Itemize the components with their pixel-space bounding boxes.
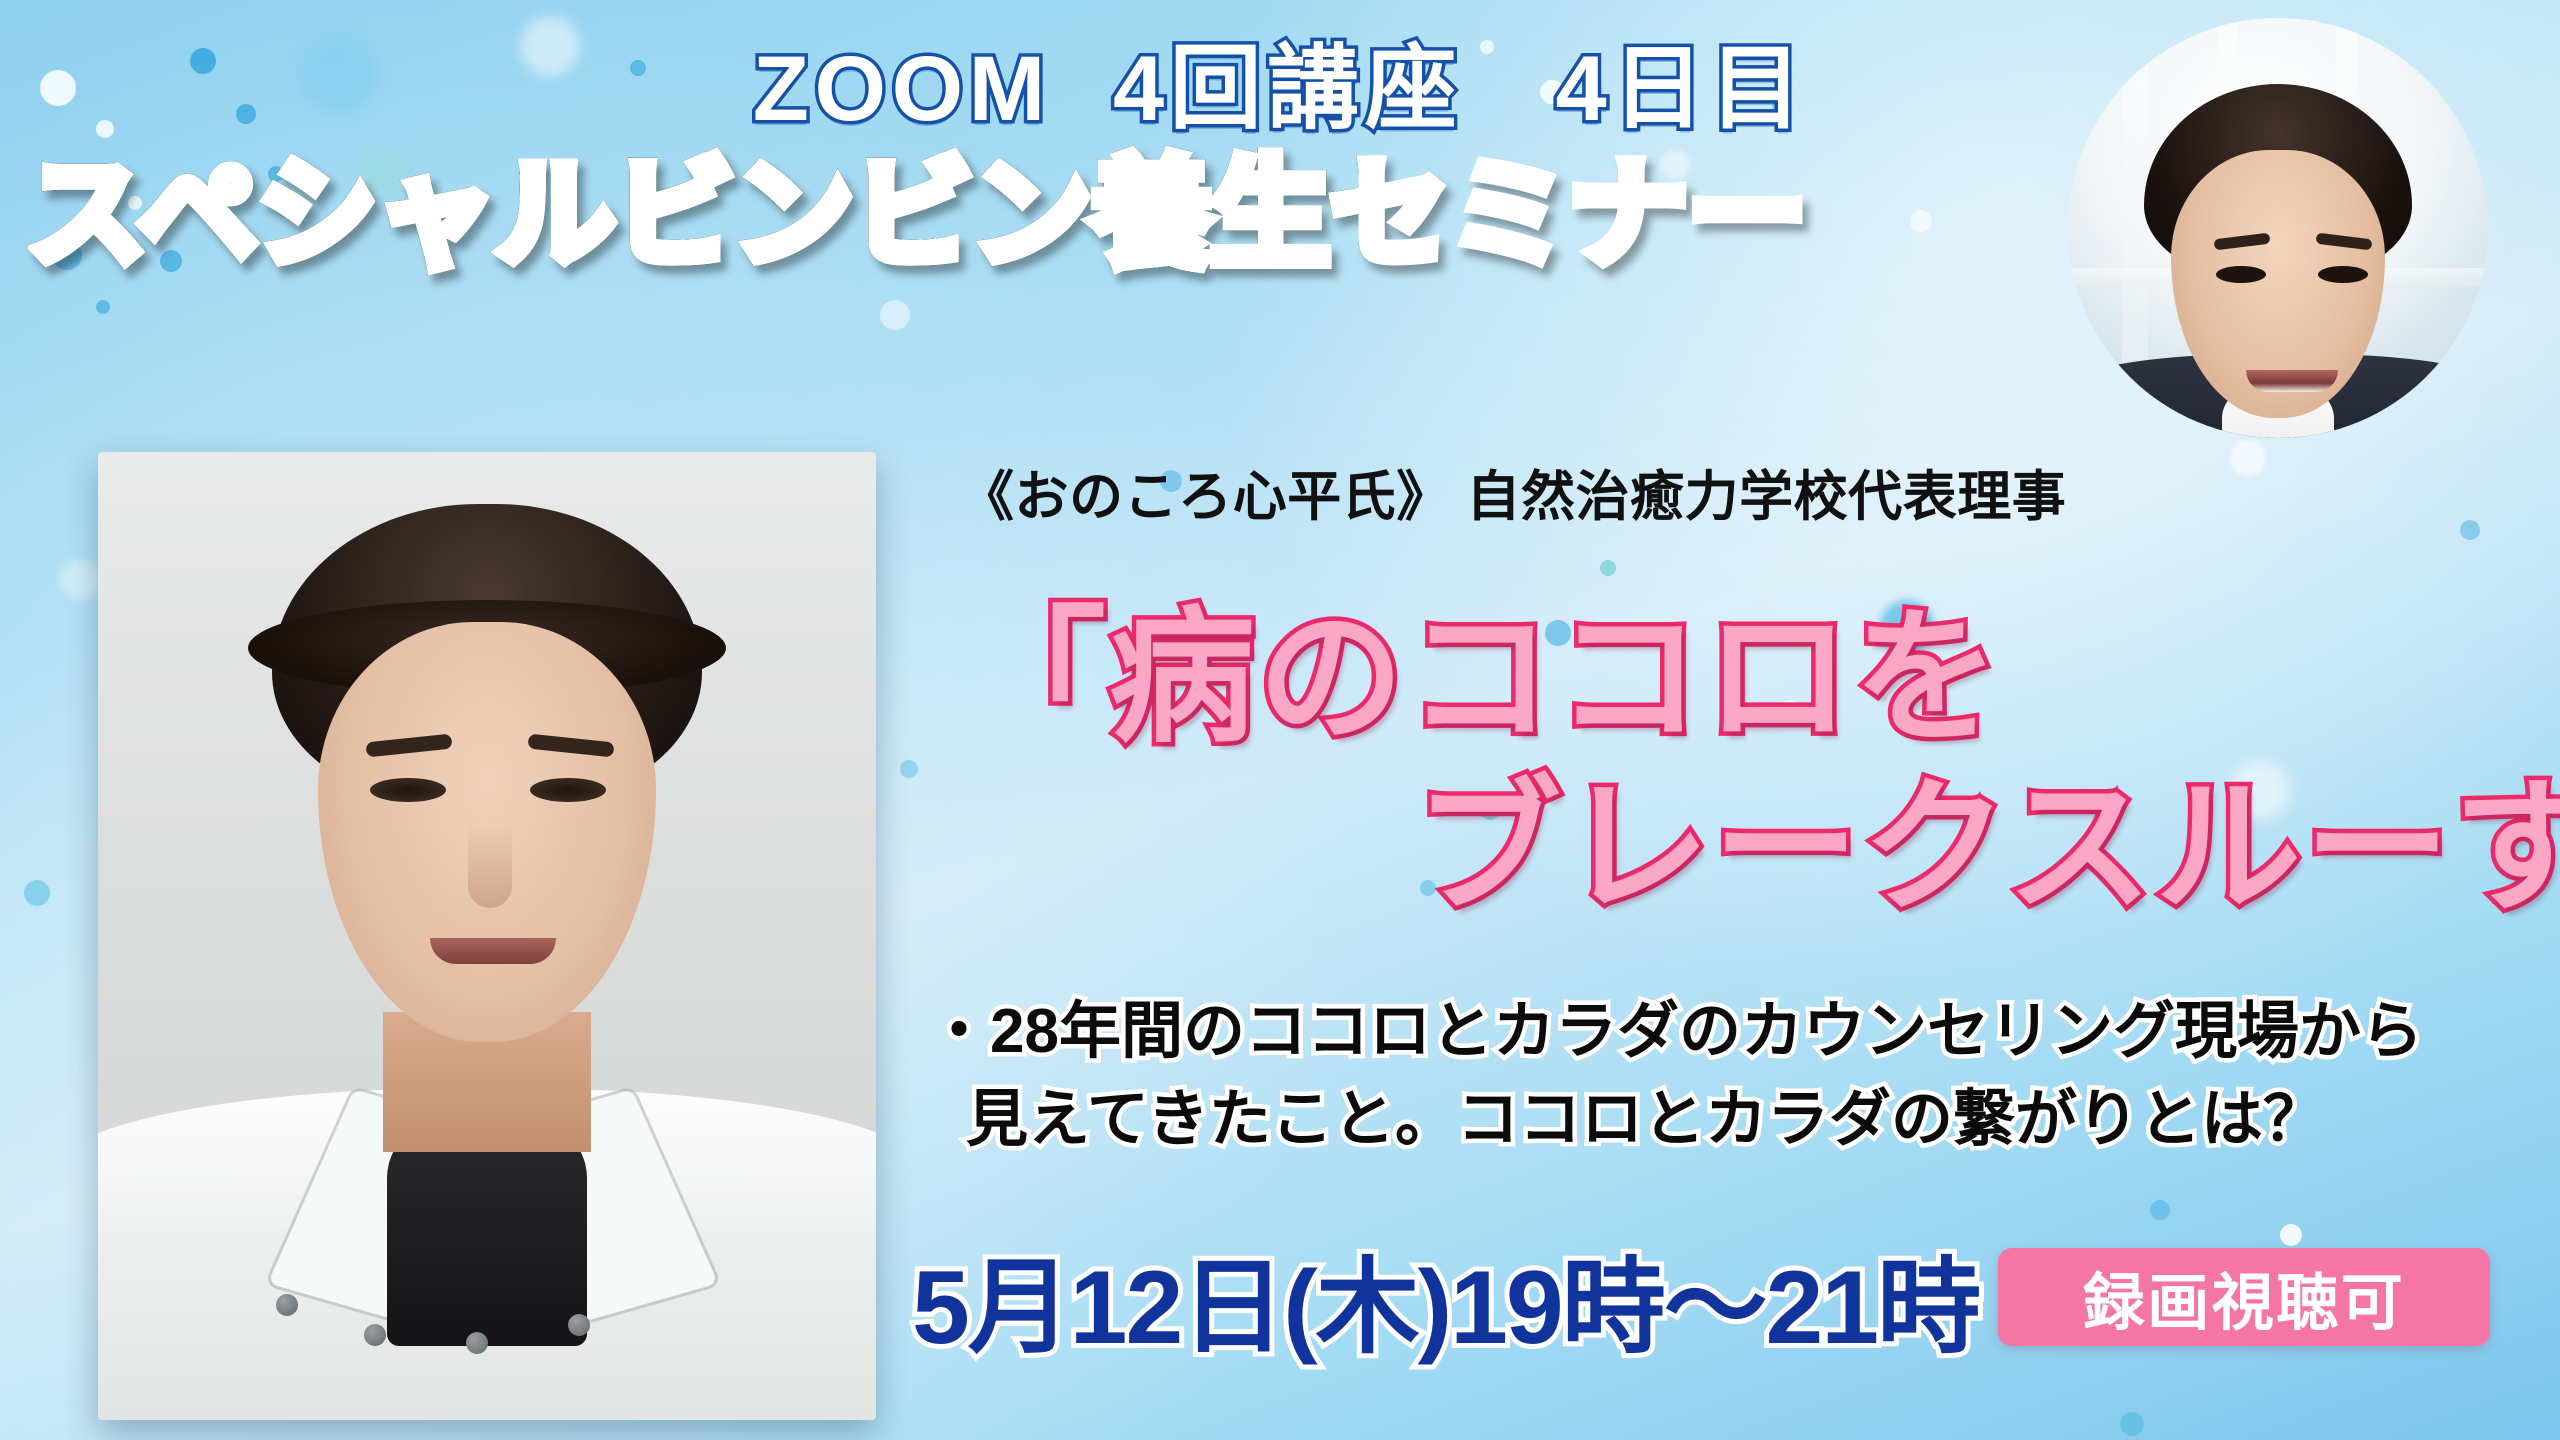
recording-available-badge: 録画視聴可 bbox=[1998, 1248, 2490, 1346]
recording-available-label: 録画視聴可 bbox=[2083, 1252, 2405, 1342]
speaker-portrait-photo bbox=[98, 452, 876, 1420]
description-line-2: 見えてきたこと。ココロとカラダの繋がりとは？ bbox=[966, 1068, 2325, 1158]
seminar-main-title: スペシャルビンビン養生セミナー bbox=[28, 118, 1368, 289]
description-line-1: ・28年間のココロとカラダのカウンセリング現場から bbox=[928, 980, 2423, 1070]
speaker-credit-line: 《おのころ心平氏》 自然治癒力学校代表理事 bbox=[960, 452, 2320, 531]
pink-headline-line-2: ブレークスルーする」 bbox=[1415, 730, 2560, 941]
seminar-poster: ZOOM 4回講座 4日目 スペシャルビンビン養生セミナー bbox=[0, 0, 2560, 1440]
event-datetime: 5月12日(木)19時～21時 bbox=[912, 1222, 1979, 1373]
speaker-portrait-circle-photo bbox=[2068, 18, 2488, 438]
